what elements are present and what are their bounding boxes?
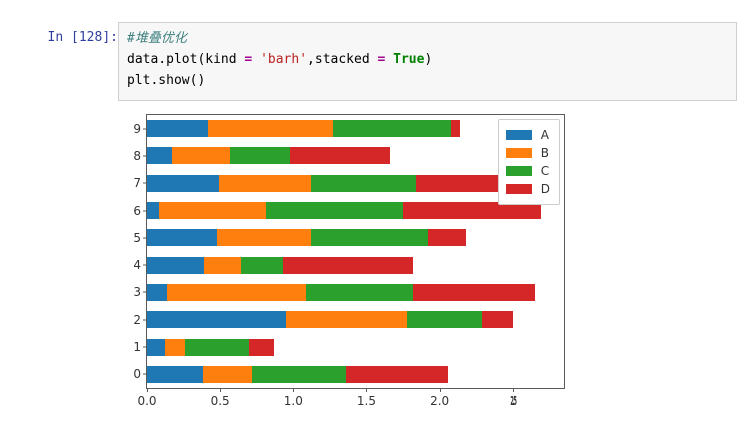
- legend-swatch-b: [506, 148, 532, 158]
- bar-segment-a: [147, 202, 159, 219]
- bar-segment-d: [249, 339, 274, 356]
- code-editor[interactable]: #堆叠优化 data.plot(kind = 'barh',stacked = …: [118, 22, 737, 101]
- code-plt-show: plt.show: [127, 73, 190, 88]
- code-line-2: data.plot(kind = 'barh',stacked = True): [127, 49, 736, 70]
- legend-label: C: [541, 164, 549, 178]
- code-comment: #堆叠优化: [127, 31, 187, 46]
- x-tick-label: 2.0: [430, 394, 449, 408]
- legend-swatch-a: [506, 130, 532, 140]
- code-kwarg-kind: kind: [205, 52, 236, 67]
- code-show-parens: (): [190, 73, 206, 88]
- x-tick-mark: [147, 388, 148, 392]
- bar-segment-c: [252, 366, 346, 383]
- code-comma: ,: [307, 52, 315, 67]
- code-string-barh: 'barh': [260, 52, 307, 67]
- bar-segment-b: [204, 257, 241, 274]
- y-tick-mark: [143, 319, 147, 320]
- x-tick-label: 0.0: [137, 394, 156, 408]
- x-tick-label: 1.5: [357, 394, 376, 408]
- bar-segment-c: [311, 229, 428, 246]
- y-tick-label: 8: [133, 149, 141, 163]
- bar-segment-d: [290, 147, 389, 164]
- x-tick-label: 1.0: [284, 394, 303, 408]
- y-tick-label: 2: [133, 313, 141, 327]
- bar-segment-b: [165, 339, 185, 356]
- legend-item: D: [506, 180, 550, 198]
- code-line-1: #堆叠优化: [127, 28, 736, 49]
- x-tick-mark: [366, 388, 367, 392]
- bar-segment-c: [185, 339, 249, 356]
- chart-axes: 0123456789 0.00.51.01.52.02.5 ABCD: [146, 114, 565, 389]
- y-tick-label: 9: [133, 122, 141, 136]
- y-tick-label: 5: [133, 231, 141, 245]
- bar-segment-d: [482, 311, 513, 328]
- legend-swatch-c: [506, 166, 532, 176]
- bar-segment-d: [346, 366, 448, 383]
- bar-segment-c: [311, 175, 416, 192]
- bar-row: [147, 257, 564, 274]
- y-tick-label: 1: [133, 340, 141, 354]
- bar-segment-a: [147, 339, 165, 356]
- y-tick-mark: [143, 210, 147, 211]
- bar-segment-a: [147, 229, 217, 246]
- y-tick-mark: [143, 237, 147, 238]
- bar-row: [147, 229, 564, 246]
- bar-row: [147, 284, 564, 301]
- bar-segment-b: [203, 366, 253, 383]
- y-tick-label: 0: [133, 367, 141, 381]
- bar-row: [147, 339, 564, 356]
- legend-label: D: [541, 182, 550, 196]
- x-tick-mark: [440, 388, 441, 392]
- legend-item: A: [506, 126, 550, 144]
- bar-segment-c: [306, 284, 413, 301]
- legend-swatch-d: [506, 184, 532, 194]
- bar-segment-b: [208, 120, 332, 137]
- x-tick-label: 0.5: [211, 394, 230, 408]
- bar-segment-b: [217, 229, 311, 246]
- bar-segment-a: [147, 175, 219, 192]
- bar-segment-b: [167, 284, 306, 301]
- bar-segment-a: [147, 120, 208, 137]
- bar-row: [147, 366, 564, 383]
- bar-segment-a: [147, 257, 204, 274]
- bar-segment-c: [266, 202, 404, 219]
- legend-label: A: [541, 128, 549, 142]
- bar-segment-b: [159, 202, 266, 219]
- bar-segment-c: [333, 120, 452, 137]
- bar-segment-b: [286, 311, 407, 328]
- y-tick-mark: [143, 183, 147, 184]
- x-tick-label: 2.5: [510, 394, 515, 408]
- code-line-3: plt.show(): [127, 70, 736, 91]
- bar-segment-d: [451, 120, 460, 137]
- x-tick-mark: [293, 388, 294, 392]
- bar-segment-a: [147, 311, 286, 328]
- matplotlib-figure-output: 0123456789 0.00.51.01.52.02.5 ABCD: [105, 108, 570, 418]
- bar-segment-a: [147, 147, 172, 164]
- code-object-name: data.plot: [127, 52, 197, 67]
- y-tick-label: 3: [133, 285, 141, 299]
- x-tick-mark: [513, 388, 514, 392]
- cell-execution-prompt: In [128]:: [18, 30, 118, 45]
- bar-segment-a: [147, 284, 167, 301]
- x-tick-mark: [220, 388, 221, 392]
- code-keyword-true: True: [393, 52, 424, 67]
- y-tick-label: 7: [133, 176, 141, 190]
- bar-segment-b: [219, 175, 311, 192]
- bar-segment-c: [230, 147, 290, 164]
- chart-legend: ABCD: [498, 119, 560, 205]
- code-rparen: ): [424, 52, 432, 67]
- y-tick-mark: [143, 265, 147, 266]
- bar-segment-d: [283, 257, 413, 274]
- bar-row: [147, 311, 564, 328]
- bar-segment-a: [147, 366, 203, 383]
- y-tick-label: 6: [133, 204, 141, 218]
- bar-segment-d: [416, 175, 507, 192]
- legend-label: B: [541, 146, 549, 160]
- bar-segment-c: [241, 257, 283, 274]
- bar-segment-b: [172, 147, 231, 164]
- y-tick-mark: [143, 374, 147, 375]
- y-tick-mark: [143, 128, 147, 129]
- y-tick-mark: [143, 292, 147, 293]
- bar-segment-d: [413, 284, 534, 301]
- y-tick-mark: [143, 347, 147, 348]
- legend-item: B: [506, 144, 550, 162]
- code-kwarg-stacked: stacked: [315, 52, 370, 67]
- y-tick-mark: [143, 155, 147, 156]
- bar-segment-c: [407, 311, 482, 328]
- y-tick-label: 4: [133, 258, 141, 272]
- legend-item: C: [506, 162, 550, 180]
- bar-segment-d: [428, 229, 466, 246]
